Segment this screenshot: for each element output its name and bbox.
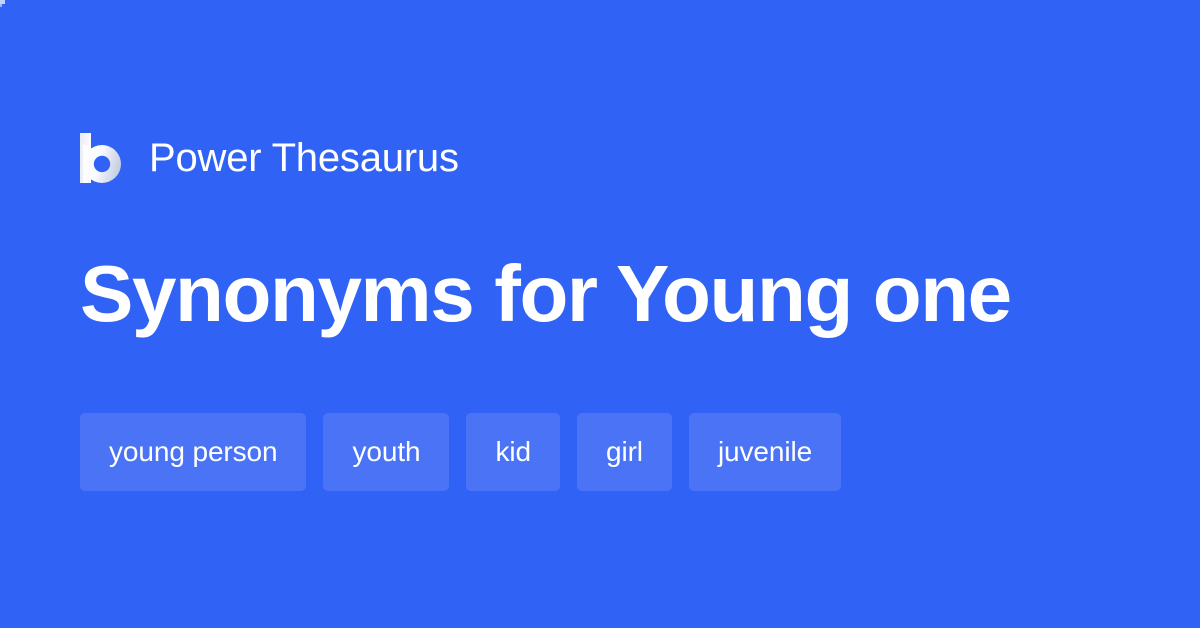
synonym-chip[interactable]: kid [466,413,560,491]
open-graph-card: Power Thesaurus Synonyms for Young one y… [0,0,1200,628]
synonym-chip-row: young person youth kid girl juvenile [80,413,841,491]
brand-name: Power Thesaurus [149,138,459,178]
power-thesaurus-b-logo-icon [80,133,124,183]
brand-header[interactable]: Power Thesaurus [80,126,459,190]
page-title: Synonyms for Young one [80,248,1140,340]
synonym-chip[interactable]: juvenile [689,413,841,491]
corner-artifact-secondary [0,4,2,7]
synonym-chip[interactable]: young person [80,413,306,491]
synonym-chip[interactable]: girl [577,413,672,491]
synonym-chip[interactable]: youth [323,413,449,491]
